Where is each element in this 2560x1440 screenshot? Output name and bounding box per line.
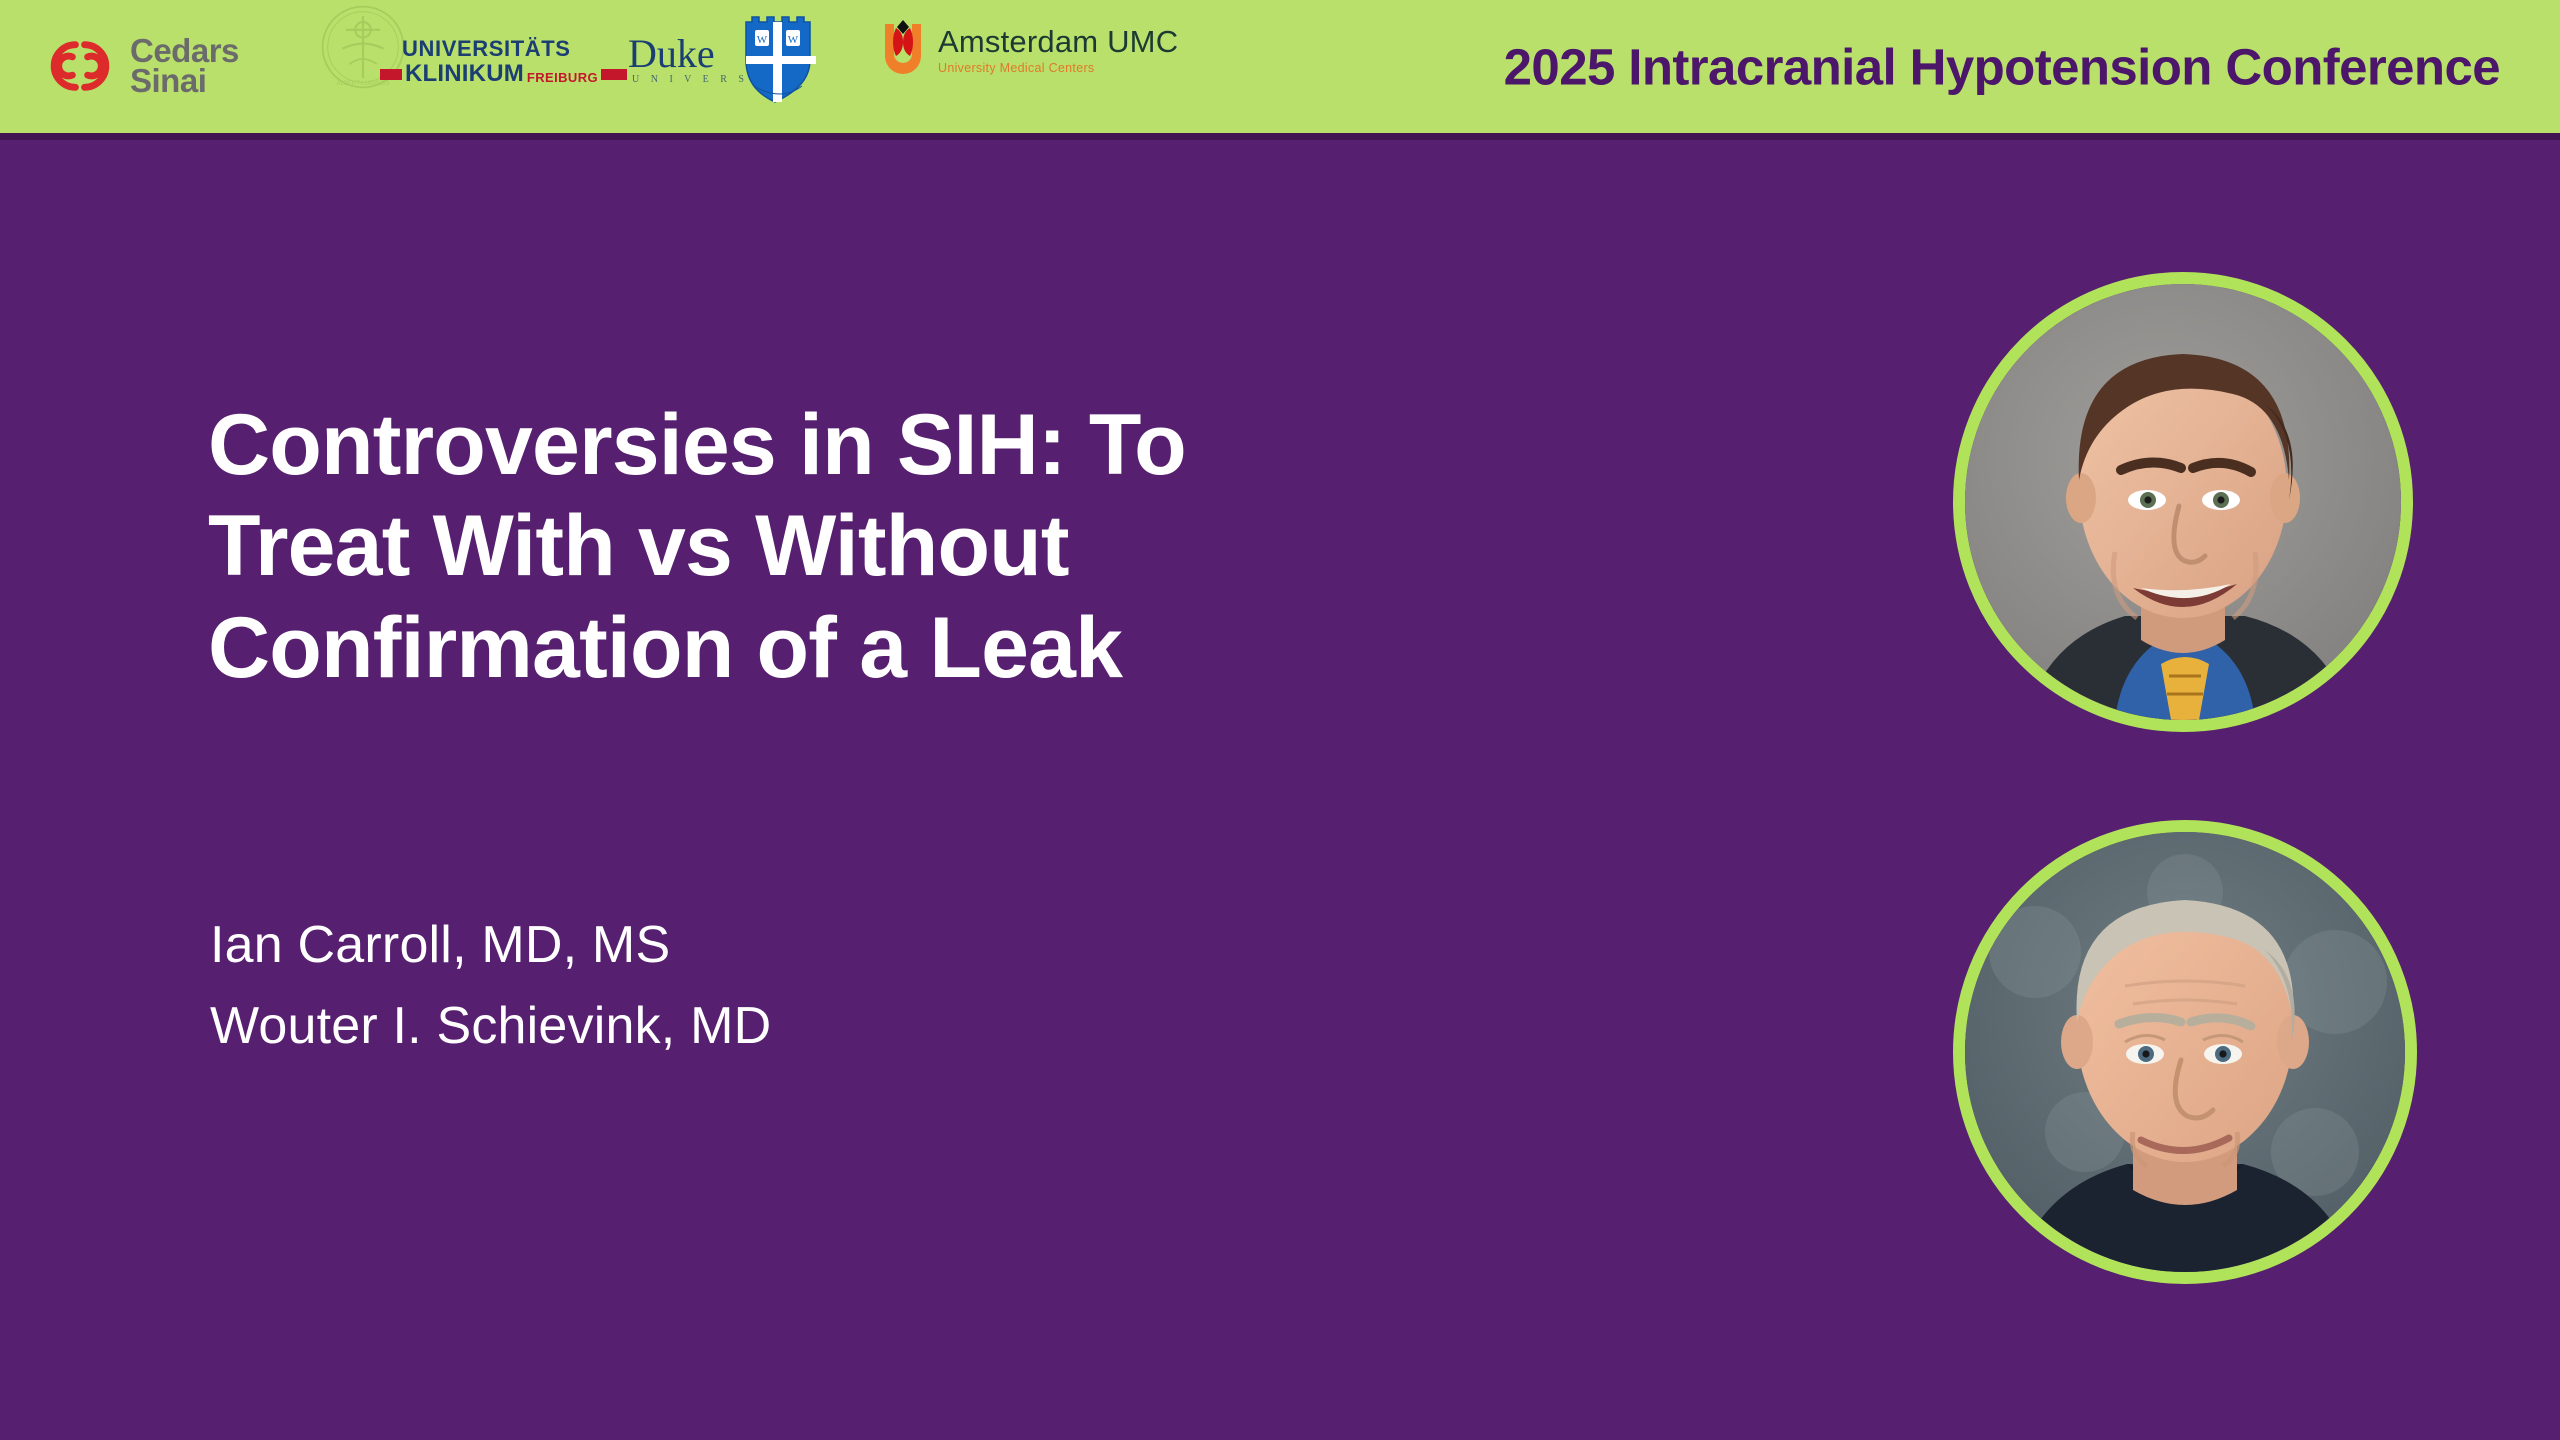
slide-title-line-1: Controversies in SIH: To [208, 395, 1538, 496]
conference-title-slide: Cedars Sinai ALBERT-LUDWIGS UNIVERSITÄTS [0, 0, 2560, 1440]
freiburg-bar-left-icon [380, 69, 402, 80]
amsterdam-umc-wordmark: Amsterdam UMC University Medical Centers [938, 20, 1178, 75]
header-underline-divider [0, 133, 2560, 140]
duke-shield-icon: W W [738, 8, 824, 104]
logo-universitatsklinikum-freiburg: ALBERT-LUDWIGS UNIVERSITÄTS KLINIKUM FRE… [318, 4, 578, 96]
freiburg-wordmark: UNIVERSITÄTS KLINIKUM FREIBURG [380, 38, 580, 86]
freiburg-klinikum-text: KLINIKUM [405, 62, 524, 86]
freiburg-line-klinikum: KLINIKUM FREIBURG [380, 62, 580, 86]
amsterdam-umc-tulip-icon [882, 20, 924, 82]
freiburg-bar-right-icon [601, 69, 627, 80]
svg-text:W: W [757, 34, 768, 46]
logo-amsterdam-umc: Amsterdam UMC University Medical Centers [882, 20, 1242, 106]
header-bar: Cedars Sinai ALBERT-LUDWIGS UNIVERSITÄTS [0, 0, 2560, 133]
amsterdam-umc-name: Amsterdam UMC [938, 24, 1178, 59]
portrait-wouter-schievink [1953, 820, 2417, 1284]
svg-text:W: W [788, 34, 799, 46]
duke-wordmark: Duke [628, 34, 715, 74]
speaker-name-1: Ian Carroll, MD, MS [210, 905, 1410, 986]
logo-cedars-sinai: Cedars Sinai [42, 16, 272, 116]
speaker-list: Ian Carroll, MD, MS Wouter I. Schievink,… [210, 905, 1410, 1066]
slide-title: Controversies in SIH: To Treat With vs W… [208, 395, 1538, 699]
freiburg-line-universitats: UNIVERSITÄTS [380, 38, 580, 60]
freiburg-city-text: FREIBURG [527, 71, 598, 86]
slide-title-line-3: Confirmation of a Leak [208, 598, 1538, 699]
conference-header-title: 2025 Intracranial Hypotension Conference [1504, 37, 2500, 96]
portrait-ian-carroll-photo [1965, 284, 2401, 720]
sponsor-logo-strip: Cedars Sinai ALBERT-LUDWIGS UNIVERSITÄTS [0, 0, 1290, 133]
slide-title-line-2: Treat With vs Without [208, 496, 1538, 597]
logo-duke-university: Duke U N I V E R S I T Y W W [628, 8, 818, 100]
portrait-ian-carroll [1953, 272, 2413, 732]
amsterdam-umc-subtitle: University Medical Centers [938, 62, 1178, 75]
portrait-wouter-schievink-photo [1965, 832, 2405, 1272]
cedars-sinai-double-c-icon [42, 28, 118, 104]
speaker-name-2: Wouter I. Schievink, MD [210, 986, 1410, 1067]
cedars-sinai-wordmark: Cedars Sinai [130, 36, 239, 97]
